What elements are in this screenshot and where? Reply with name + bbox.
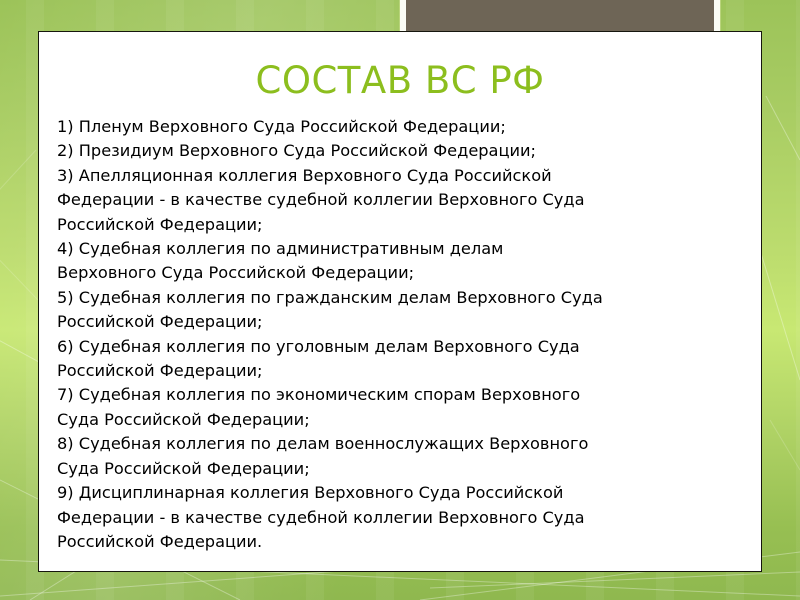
list-item: 5) Судебная коллегия по гражданским дела… <box>57 286 747 335</box>
list-item: 8) Судебная коллегия по делам военнослуж… <box>57 432 747 481</box>
court-composition-list: 1) Пленум Верховного Суда Российской Фед… <box>39 101 761 554</box>
list-item: 7) Судебная коллегия по экономическим сп… <box>57 383 747 432</box>
page-title: СОСТАВ ВС РФ <box>39 32 761 101</box>
content-card: СОСТАВ ВС РФ 1) Пленум Верховного Суда Р… <box>38 31 762 572</box>
list-item: 1) Пленум Верховного Суда Российской Фед… <box>57 115 747 139</box>
list-item: 4) Судебная коллегия по административным… <box>57 237 747 286</box>
list-item: 3) Апелляционная коллегия Верховного Суд… <box>57 164 747 237</box>
list-item: 2) Президиум Верховного Суда Российской … <box>57 139 747 163</box>
list-item: 6) Судебная коллегия по уголовным делам … <box>57 335 747 384</box>
slide: СОСТАВ ВС РФ 1) Пленум Верховного Суда Р… <box>0 0 800 600</box>
list-item: 9) Дисциплинарная коллегия Верховного Су… <box>57 481 747 554</box>
